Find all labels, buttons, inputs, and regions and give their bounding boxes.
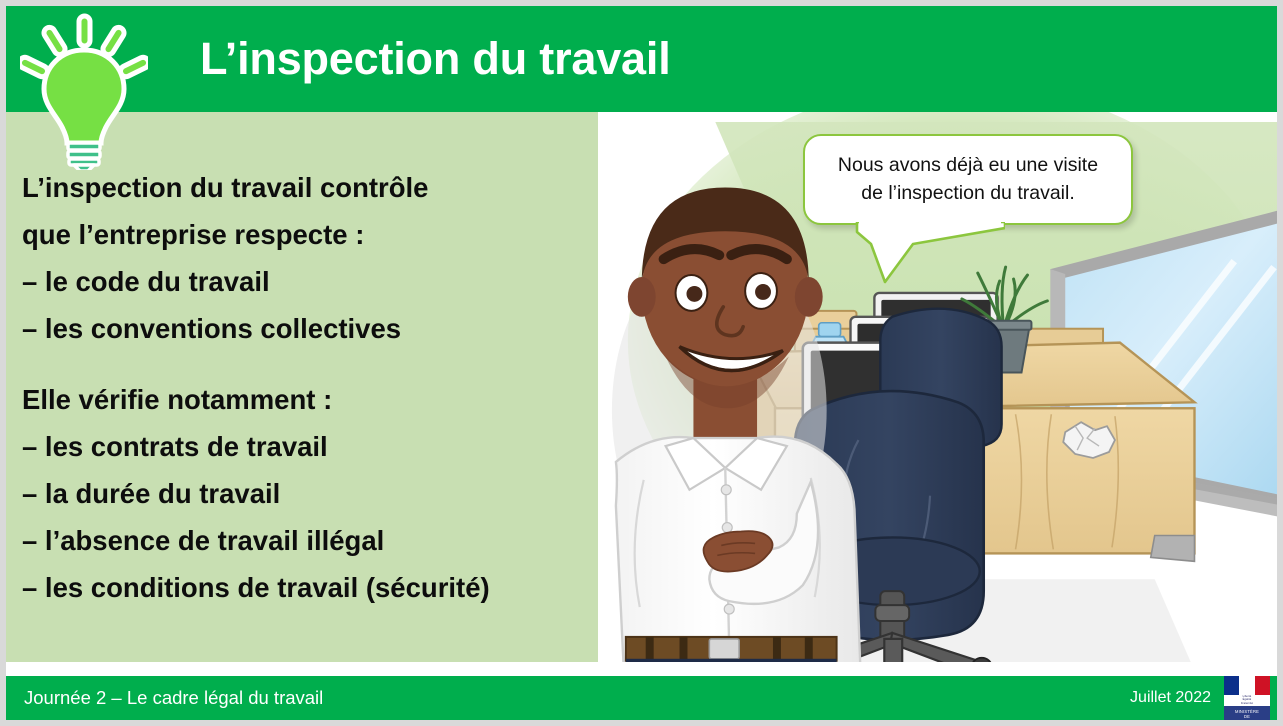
text-line: – les conventions collectives [22,305,590,352]
text-line: – les conditions de travail (sécurité) [22,564,590,611]
slide-canvas: L’inspection du travail [6,6,1277,720]
text-line: que l’entreprise respecte : [22,211,590,258]
slide-frame: L’inspection du travail [0,0,1283,726]
ministry-name: MINISTÈRE DE L’INTÉRIEUR [1224,706,1270,720]
lesson-text: L’inspection du travail contrôle que l’e… [22,164,590,611]
illustration-pane: Nous avons déjà eu une visite de l’inspe… [598,112,1277,662]
republic-motto: Liberté Égalité Fraternité [1224,695,1270,705]
speech-bubble-tail [855,222,1005,284]
lightbulb-icon [20,10,148,170]
text-line: – l’absence de travail illégal [22,517,590,564]
motto-line-3: Fraternité [1225,702,1269,705]
ministry-logo: Liberté Égalité Fraternité MINISTÈRE DE … [1224,674,1270,720]
text-line: Elle vérifie notamment : [22,376,590,423]
text-line: – les contrats de travail [22,423,590,470]
paragraph-spacer [22,352,590,376]
slide-header: L’inspection du travail [6,6,1277,112]
slide-footer: Journée 2 – Le cadre légal du travail Ju… [6,676,1277,720]
speech-line-2: de l’inspection du travail. [819,179,1117,207]
flag-blue-band [1224,676,1239,695]
french-flag-icon [1224,674,1270,695]
text-line: L’inspection du travail contrôle [22,164,590,211]
speech-bubble: Nous avons déjà eu une visite de l’inspe… [803,134,1133,225]
footer-date: Juillet 2022 [1130,689,1211,707]
flag-white-band [1239,676,1254,695]
text-pane: L’inspection du travail contrôle que l’e… [6,112,598,662]
speech-line-1: Nous avons déjà eu une visite [819,151,1117,179]
footer-session-label: Journée 2 – Le cadre légal du travail [24,687,323,709]
speech-bubble-body: Nous avons déjà eu une visite de l’inspe… [803,134,1133,225]
text-line: – le code du travail [22,258,590,305]
page-title: L’inspection du travail [200,33,671,85]
flag-red-band [1255,676,1270,695]
text-line: – la durée du travail [22,470,590,517]
